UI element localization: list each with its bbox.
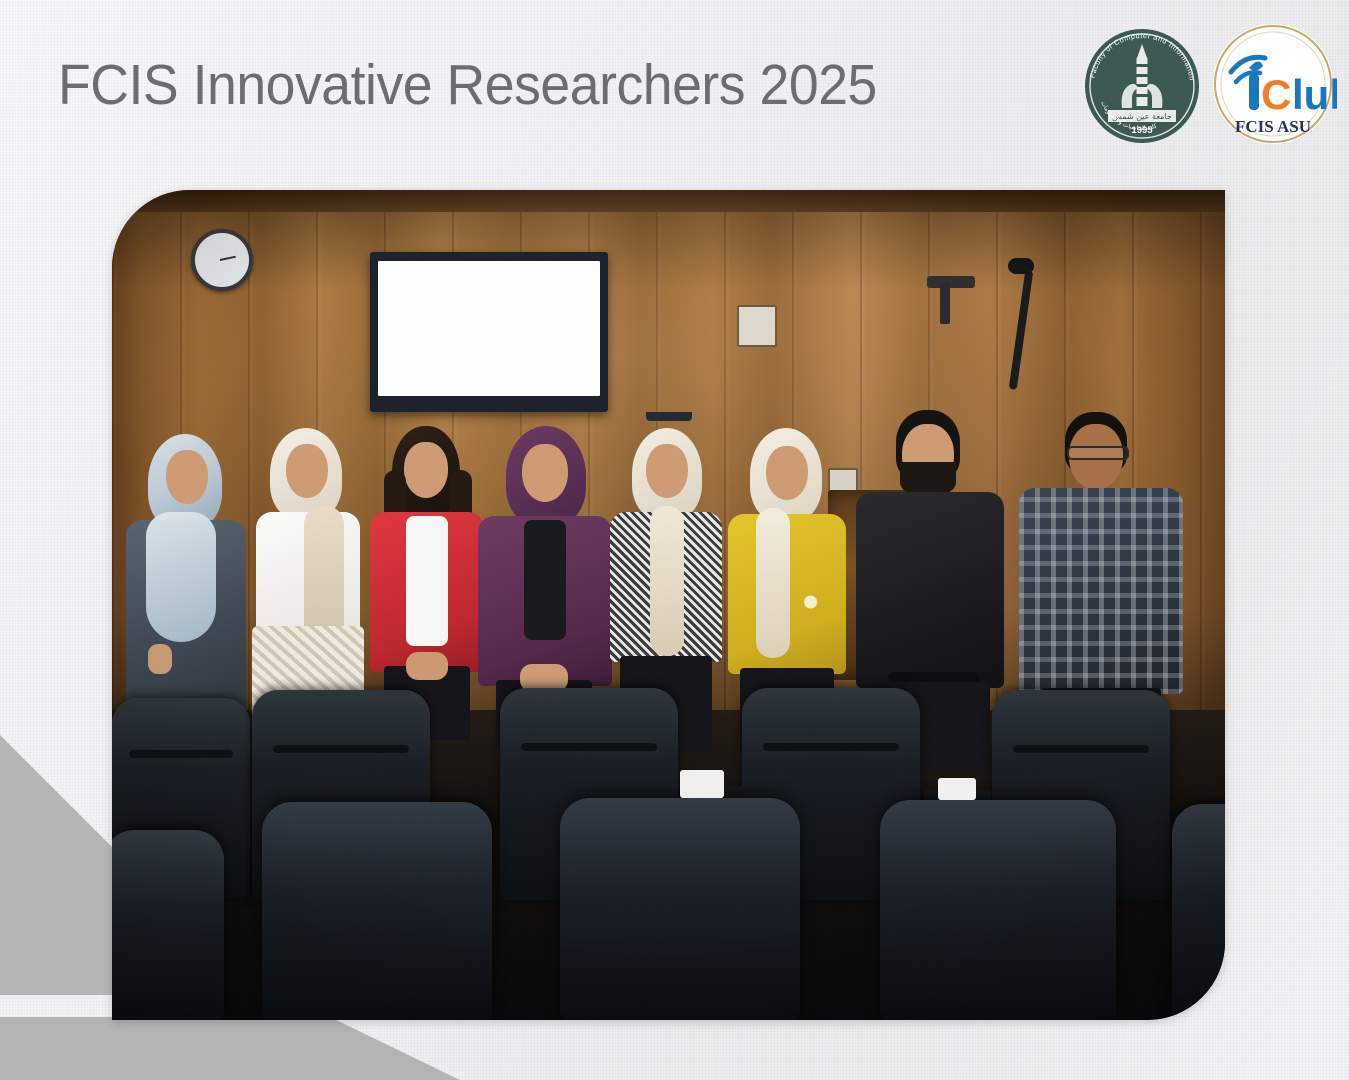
person-1: [114, 420, 249, 720]
face: [166, 450, 208, 504]
glasses-icon: [1067, 446, 1129, 460]
seat-row-front: [262, 802, 492, 1020]
screen-surface: [378, 261, 600, 396]
iclub-logo-icon: C lub FCIS ASU: [1209, 16, 1337, 157]
fcis-seal-svg: Faculty of Computer and Information Scie…: [1081, 18, 1203, 150]
wall-hook-icon: [940, 282, 950, 324]
black-shirt: [856, 492, 1004, 688]
decorative-gray-triangle-bottom: [0, 1017, 460, 1080]
scarf-drape: [756, 508, 790, 658]
face: [646, 444, 688, 498]
hand: [148, 644, 172, 674]
microphone-head-icon: [1008, 258, 1034, 274]
seat-row-front: [560, 798, 800, 1020]
fcis-faculty-seal-icon: Faculty of Computer and Information Scie…: [1081, 18, 1203, 155]
scarf-drape: [146, 512, 216, 642]
slide-canvas: FCIS Innovative Researchers 2025 Faculty…: [0, 0, 1349, 1080]
inner-top: [524, 520, 566, 640]
svg-text:lub: lub: [1292, 71, 1337, 118]
iclub-logo-svg: C lub FCIS ASU: [1209, 16, 1337, 152]
group-photo: [112, 190, 1225, 1020]
svg-text:FCIS ASU: FCIS ASU: [1235, 117, 1311, 136]
page-title: FCIS Innovative Researchers 2025: [58, 52, 877, 118]
inner-top: [406, 516, 448, 646]
tissue-paper: [938, 778, 976, 800]
display-screen: [370, 252, 608, 412]
face: [766, 446, 808, 500]
wall-bracket: [927, 276, 975, 288]
svg-text:C: C: [1261, 71, 1291, 118]
face: [404, 442, 448, 498]
scarf-drape: [304, 506, 344, 644]
face: [522, 444, 568, 502]
seat-row-front: [880, 800, 1116, 1020]
wall-plate: [737, 305, 777, 347]
face: [286, 444, 328, 498]
seat-row-front: [112, 830, 224, 1020]
wall-clock-icon: [191, 229, 253, 291]
tissue-box: [680, 770, 724, 798]
seat-row-front: [1172, 804, 1225, 1020]
scarf-drape: [650, 506, 684, 656]
beard: [900, 462, 956, 496]
group-photo-content: [112, 190, 1225, 1020]
hands: [406, 652, 448, 680]
plaid-shirt: [1019, 488, 1183, 694]
logo-row: Faculty of Computer and Information Scie…: [1081, 16, 1337, 157]
